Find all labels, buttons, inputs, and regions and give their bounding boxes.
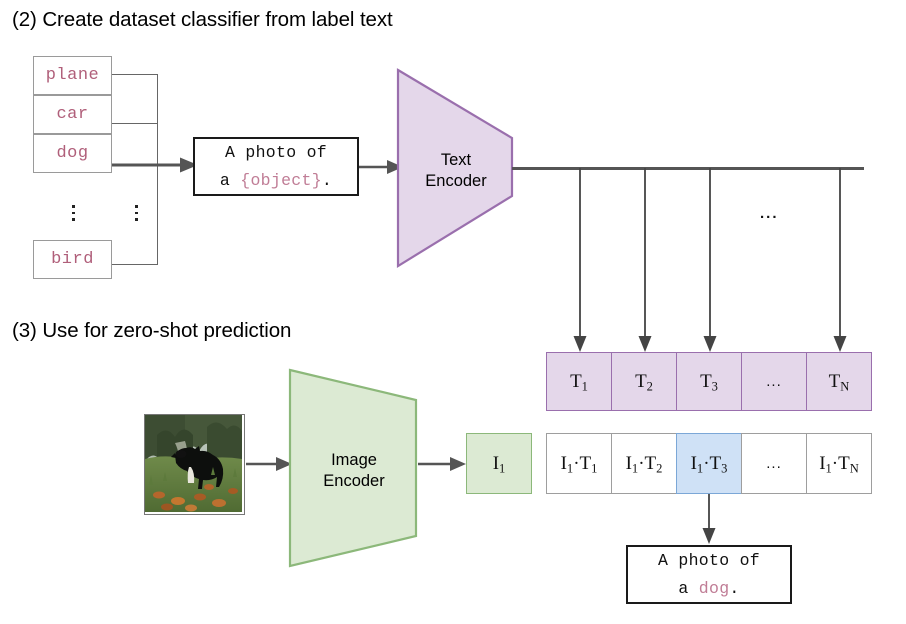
prediction-line-2-suffix: . xyxy=(729,579,739,598)
arrow-photo-to-image-encoder xyxy=(246,449,292,479)
prediction-output-box[interactable]: A photo of a dog. xyxy=(626,545,792,604)
label-text: bird xyxy=(51,250,94,269)
image-encoder-block[interactable]: Image Encoder xyxy=(288,368,420,568)
similarity-cell[interactable]: I1·T1 xyxy=(546,433,612,494)
image-encoder-label: Image Encoder xyxy=(288,450,420,492)
text-encoder-output-bus xyxy=(512,167,864,170)
section-3-heading: (3) Use for zero-shot prediction xyxy=(12,319,291,343)
text-embedding-ellipsis: ... xyxy=(766,373,782,390)
arrow-bus-to-t3 xyxy=(700,168,720,352)
prompt-line-2-suffix: . xyxy=(322,171,332,190)
similarity-cell-ellipsis: ... xyxy=(741,433,807,494)
text-encoder-label-line1: Text xyxy=(396,150,516,171)
text-embedding-cell-ellipsis: ... xyxy=(741,352,807,411)
similarity-cell[interactable]: I1·TN xyxy=(806,433,872,494)
similarity-label: I1·T1 xyxy=(561,453,598,475)
text-embedding-label: T1 xyxy=(570,371,588,393)
image-encoder-label-line2: Encoder xyxy=(288,471,420,492)
similarity-label: I1·T2 xyxy=(626,453,663,475)
label-text: plane xyxy=(46,66,100,85)
text-embedding-cell[interactable]: TN xyxy=(806,352,872,411)
arrow-image-encoder-to-i1 xyxy=(418,449,466,479)
arrow-labels-to-prompt xyxy=(112,150,198,180)
label-box-plane[interactable]: plane xyxy=(33,56,112,95)
text-embedding-cell[interactable]: T2 xyxy=(611,352,677,411)
bus-ellipsis: ... xyxy=(760,205,779,222)
similarity-label: I1·TN xyxy=(819,453,859,475)
connector-car-stub xyxy=(112,123,158,124)
arrow-bus-to-t2 xyxy=(635,168,655,352)
similarity-cell-selected[interactable]: I1·T3 xyxy=(676,433,742,494)
image-encoder-label-line1: Image xyxy=(288,450,420,471)
text-encoder-block[interactable]: Text Encoder xyxy=(396,68,516,268)
text-encoder-label-line2: Encoder xyxy=(396,171,516,192)
section-2-heading: (2) Create dataset classifier from label… xyxy=(12,8,393,32)
prediction-line-2-prefix: a xyxy=(678,579,698,598)
prompt-line-2: a {object}. xyxy=(220,167,332,194)
text-embedding-cell[interactable]: T1 xyxy=(546,352,612,411)
label-list-vertical-dots-right xyxy=(135,205,138,221)
label-text: dog xyxy=(56,144,88,163)
prompt-line-1: A photo of xyxy=(225,139,327,166)
connector-bird-stub xyxy=(112,264,158,265)
prediction-class: dog xyxy=(699,579,730,598)
label-box-car[interactable]: car xyxy=(33,95,112,134)
prediction-line-2: a dog. xyxy=(678,575,739,602)
similarity-label: I1·T3 xyxy=(691,453,728,475)
text-embedding-label: T3 xyxy=(700,371,718,393)
text-encoder-label: Text Encoder xyxy=(396,150,516,192)
label-list-vertical-dots-left xyxy=(72,205,75,221)
input-photo-dog[interactable] xyxy=(144,414,245,515)
prompt-template-box[interactable]: A photo of a {object}. xyxy=(193,137,359,196)
label-box-bird[interactable]: bird xyxy=(33,240,112,279)
label-text: car xyxy=(56,105,88,124)
text-embedding-label: T2 xyxy=(635,371,653,393)
arrow-bus-to-tn xyxy=(830,168,850,352)
prompt-object-slot: {object} xyxy=(240,171,322,190)
arrow-bus-to-t1 xyxy=(570,168,590,352)
similarity-cell[interactable]: I1·T2 xyxy=(611,433,677,494)
photo-content xyxy=(145,415,242,512)
text-embedding-label: TN xyxy=(829,371,850,393)
text-embedding-cell[interactable]: T3 xyxy=(676,352,742,411)
prompt-line-2-prefix: a xyxy=(220,171,240,190)
similarity-ellipsis: ... xyxy=(766,455,782,472)
connector-plane-stub xyxy=(112,74,158,75)
prediction-line-1: A photo of xyxy=(658,547,760,574)
image-embedding-label: I1 xyxy=(493,453,506,475)
label-box-dog[interactable]: dog xyxy=(33,134,112,173)
arrow-selected-to-prediction xyxy=(699,494,719,544)
image-embedding-box[interactable]: I1 xyxy=(466,433,532,494)
